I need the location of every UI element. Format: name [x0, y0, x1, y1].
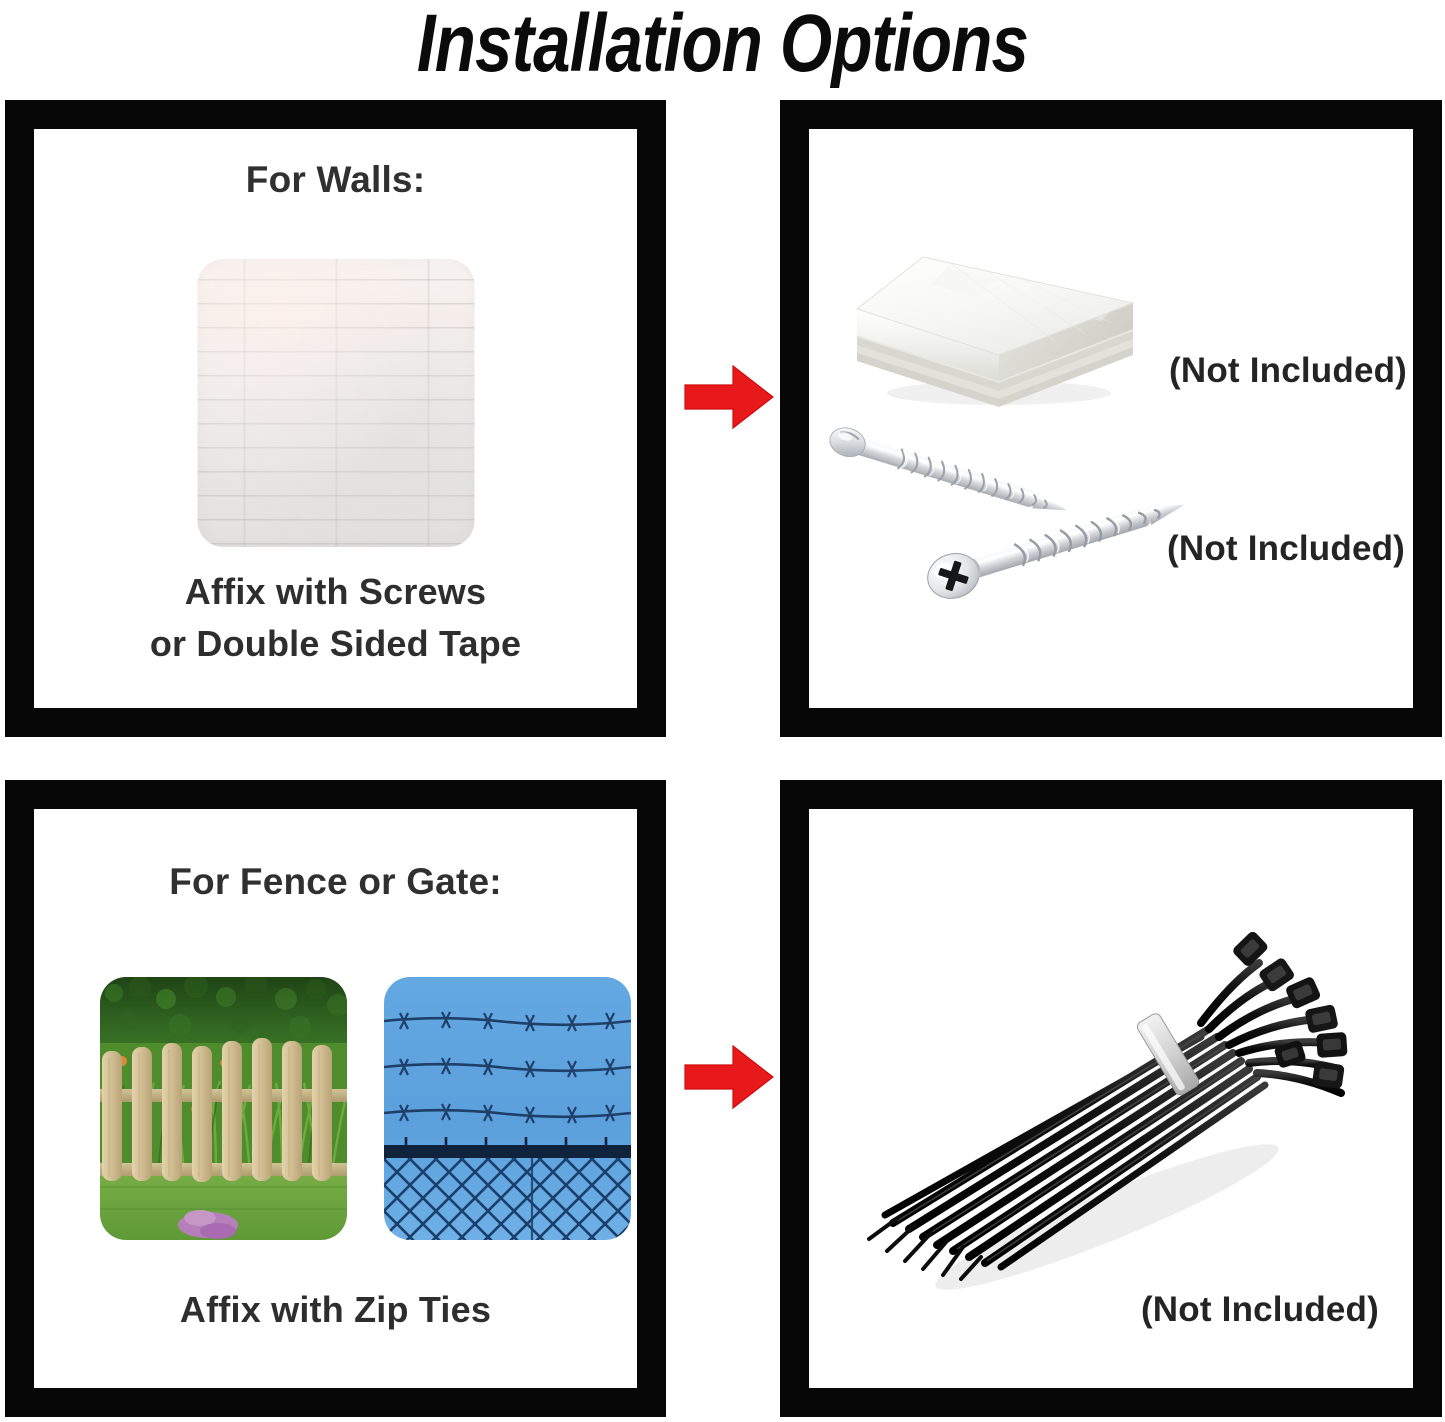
double-sided-tape-image	[849, 247, 1139, 412]
panel-zip-ties: (Not Included)	[780, 780, 1442, 1417]
panel-wall-hardware-body: (Not Included)	[809, 129, 1413, 708]
screws-not-included-label: (Not Included)	[1167, 529, 1405, 569]
zip-ties-not-included-label: (Not Included)	[1141, 1290, 1379, 1330]
wood-screw-upper-image	[825, 423, 1095, 513]
panel-for-walls: For Walls: Affix with Screws or Double S…	[5, 100, 666, 737]
wooden-picket-fence-image	[100, 977, 347, 1240]
panel-for-fence-heading: For Fence or Gate:	[34, 861, 637, 903]
panel-for-walls-caption: Affix with Screws or Double Sided Tape	[34, 566, 637, 670]
chain-link-barbed-wire-fence-image	[384, 977, 631, 1240]
page-title: Installation Options	[130, 0, 1315, 90]
panel-for-fence-or-gate: For Fence or Gate:	[5, 780, 666, 1417]
caption-line-zip-ties: Affix with Zip Ties	[34, 1284, 637, 1336]
panel-for-walls-body: For Walls: Affix with Screws or Double S…	[34, 129, 637, 708]
arrow-right-icon-bottom	[683, 1043, 775, 1111]
panel-wall-hardware: (Not Included)	[780, 100, 1442, 737]
panel-for-fence-or-gate-body: For Fence or Gate:	[34, 809, 637, 1388]
panel-for-walls-heading: For Walls:	[34, 159, 637, 201]
tape-not-included-label: (Not Included)	[1169, 351, 1407, 391]
caption-line-tape: or Double Sided Tape	[34, 618, 637, 670]
installation-options-infographic: Installation Options For Walls: Affix wi…	[0, 0, 1445, 1422]
panel-for-fence-caption: Affix with Zip Ties	[34, 1284, 637, 1336]
caption-line-screws: Affix with Screws	[34, 566, 637, 618]
arrow-right-icon-top	[683, 363, 775, 431]
zip-tie-bundle-image	[857, 917, 1357, 1287]
panel-zip-ties-body: (Not Included)	[809, 809, 1413, 1388]
white-brick-wall-image	[197, 259, 474, 547]
